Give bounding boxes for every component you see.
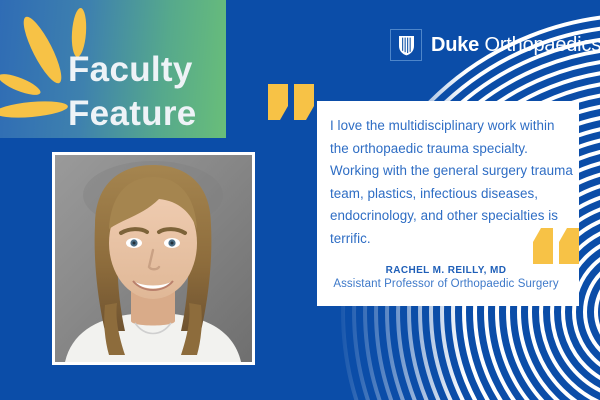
logo-department-text: Orthopaedics bbox=[484, 34, 600, 56]
attribution-name: RACHEL M. REILLY, MD bbox=[317, 265, 575, 276]
starburst-ray-4 bbox=[0, 99, 69, 120]
logo-brand-text: Duke bbox=[431, 34, 479, 56]
duke-shield-icon bbox=[390, 29, 422, 61]
starburst-ray-3 bbox=[0, 70, 43, 99]
attribution-role: Assistant Professor of Orthopaedic Surge… bbox=[317, 278, 575, 290]
quote-card: I love the multidisciplinary work within… bbox=[317, 101, 579, 306]
page-title: Faculty Feature bbox=[68, 48, 226, 136]
card-backdrop-strip bbox=[301, 101, 317, 306]
faculty-photo-frame bbox=[52, 152, 255, 365]
close-quote-icon bbox=[533, 228, 579, 264]
open-quote-icon bbox=[268, 84, 314, 120]
starburst-ray-2 bbox=[17, 13, 68, 88]
attribution: RACHEL M. REILLY, MD Assistant Professor… bbox=[317, 265, 575, 290]
avatar bbox=[55, 155, 252, 362]
duke-orthopaedics-logo: Duke Orthopaedics bbox=[390, 29, 600, 61]
faculty-feature-graphic: Faculty Feature Duke Orthopaedics bbox=[0, 0, 600, 400]
faculty-feature-banner: Faculty Feature bbox=[0, 0, 226, 138]
logo-wordmark: Duke Orthopaedics bbox=[431, 34, 600, 57]
